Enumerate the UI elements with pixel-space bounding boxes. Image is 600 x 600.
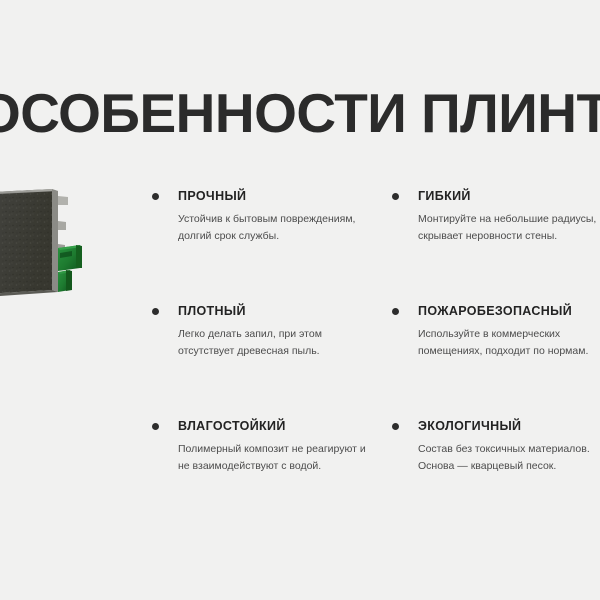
- product-image: [0, 178, 82, 308]
- feature-item-gibkiy: ГИБКИЙ Монтируйте на небольшие радиусы, …: [392, 188, 600, 275]
- feature-title: ПОЖАРОБЕЗОПАСНЫЙ: [418, 303, 572, 319]
- page-title-container: ОСОБЕННОСТИ ПЛИНТУСА: [0, 82, 600, 144]
- feature-grid: ПРОЧНЫЙ Устойчив к бытовым повреждениям,…: [152, 188, 600, 533]
- slide-root: ОСОБЕННОСТИ ПЛИНТУСА: [0, 0, 600, 600]
- feature-item-plotnyy: ПЛОТНЫЙ Легко делать запил, при этом отс…: [152, 303, 392, 390]
- feature-description: Монтируйте на небольшие радиусы, скрывае…: [418, 211, 600, 244]
- feature-heading-row: ПОЖАРОБЕЗОПАСНЫЙ: [392, 303, 600, 319]
- feature-description: Устойчив к бытовым повреждениям, долгий …: [178, 211, 368, 244]
- feature-item-ekologichnyy: ЭКОЛОГИЧНЫЙ Состав без токсичных материа…: [392, 418, 600, 505]
- feature-heading-row: ПЛОТНЫЙ: [152, 303, 392, 319]
- bullet-dot-icon: [152, 308, 159, 315]
- page-title: ОСОБЕННОСТИ ПЛИНТУСА: [0, 82, 600, 144]
- feature-description: Состав без токсичных материалов. Основа …: [418, 441, 600, 474]
- feature-title: ГИБКИЙ: [418, 188, 471, 204]
- feature-title: ПРОЧНЫЙ: [178, 188, 246, 204]
- bullet-dot-icon: [392, 308, 399, 315]
- feature-heading-row: ГИБКИЙ: [392, 188, 600, 204]
- feature-title: ВЛАГОСТОЙКИЙ: [178, 418, 286, 434]
- feature-title: ПЛОТНЫЙ: [178, 303, 246, 319]
- feature-heading-row: ЭКОЛОГИЧНЫЙ: [392, 418, 600, 434]
- feature-heading-row: ВЛАГОСТОЙКИЙ: [152, 418, 392, 434]
- feature-item-vlagostoykiy: ВЛАГОСТОЙКИЙ Полимерный композит не реаг…: [152, 418, 392, 505]
- bullet-dot-icon: [392, 193, 399, 200]
- feature-description: Используйте в коммерческих помещениях, п…: [418, 326, 600, 359]
- feature-item-pozharobezopasnyy: ПОЖАРОБЕЗОПАСНЫЙ Используйте в коммерчес…: [392, 303, 600, 390]
- bullet-dot-icon: [152, 193, 159, 200]
- feature-heading-row: ПРОЧНЫЙ: [152, 188, 392, 204]
- feature-description: Легко делать запил, при этом отсутствует…: [178, 326, 368, 359]
- bullet-dot-icon: [152, 423, 159, 430]
- feature-title: ЭКОЛОГИЧНЫЙ: [418, 418, 521, 434]
- bullet-dot-icon: [392, 423, 399, 430]
- feature-description: Полимерный композит не реагируют и не вз…: [178, 441, 368, 474]
- feature-item-prochnyy: ПРОЧНЫЙ Устойчив к бытовым повреждениям,…: [152, 188, 392, 275]
